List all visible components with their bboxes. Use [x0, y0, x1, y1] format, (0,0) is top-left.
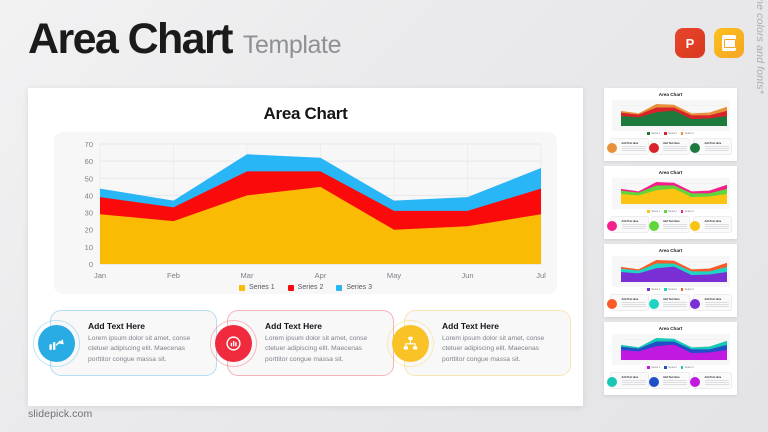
thumbnail-legend-swatch-icon	[647, 288, 650, 291]
hierarchy-icon	[392, 325, 429, 362]
thumbnail-card-text-line	[705, 306, 729, 307]
thumbnail-legend-item: Series 2	[664, 366, 677, 369]
legend-label: Series 1	[249, 284, 275, 291]
thumbnail-card-text-line	[622, 382, 646, 383]
thumbnail-legend: Series 1Series 2Series 3	[604, 132, 737, 135]
y-axis-tick: 0	[89, 260, 93, 269]
thumbnail-info-card: Add Text Here	[651, 372, 690, 389]
thumbnail-card-icon	[690, 221, 700, 231]
thumbnail-title: Area Chart	[604, 170, 737, 175]
chart-plot-area: 010203040506070JanFebMarAprMayJunJul	[54, 132, 557, 294]
info-card[interactable]: Add Text HereLorem ipsum dolor sit amet,…	[50, 310, 217, 376]
thumbnail-legend-label: Series 3	[685, 132, 694, 135]
info-card[interactable]: Add Text HereLorem ipsum dolor sit amet,…	[404, 310, 571, 376]
thumbnail-card-icon	[649, 221, 659, 231]
thumbnail-card-icon	[607, 143, 617, 153]
thumbnail-card-icon	[649, 143, 659, 153]
thumbnail-info-card: Add Text Here	[610, 294, 649, 311]
powerpoint-icon: P	[686, 36, 695, 51]
thumbnail-card-icon	[607, 377, 617, 387]
y-axis-tick: 40	[85, 191, 93, 200]
thumbnail-cards: Add Text HereAdd Text HereAdd Text Here	[604, 216, 737, 233]
growth-chart-icon	[38, 325, 75, 362]
thumbnail-legend-swatch-icon	[664, 366, 667, 369]
page-title: Area Chart	[28, 18, 232, 61]
thumbnail-card-text-line	[622, 306, 646, 307]
thumbnail-legend-label: Series 3	[685, 366, 694, 369]
thumbnail-cards: Add Text HereAdd Text HereAdd Text Here	[604, 138, 737, 155]
legend-swatch-icon	[239, 285, 245, 291]
page-subtitle: Template	[243, 31, 341, 60]
thumbnail-card-heading: Add Text Here	[622, 298, 646, 301]
thumbnail-legend-swatch-icon	[647, 132, 650, 135]
thumbnail-card-icon	[607, 299, 617, 309]
thumbnail-legend-swatch-icon	[664, 210, 667, 213]
google-slides-badge[interactable]	[714, 28, 744, 58]
thumbnail-cards: Add Text HereAdd Text HereAdd Text Here	[604, 372, 737, 389]
thumbnail-card-text-line	[663, 304, 687, 305]
thumbnail-title: Area Chart	[604, 248, 737, 253]
thumbnail-card-text-line	[663, 302, 687, 303]
thumbnail-legend: Series 1Series 2Series 3	[604, 288, 737, 291]
thumbnail-legend: Series 1Series 2Series 3	[604, 366, 737, 369]
chart-card: 010203040506070JanFebMarAprMayJunJul	[54, 132, 557, 294]
thumbnail-card-text-line	[663, 228, 687, 229]
info-card-heading: Add Text Here	[442, 321, 560, 331]
thumbnail-card-text-line	[705, 228, 729, 229]
thumbnail-card-icon	[690, 377, 700, 387]
thumbnail-legend-swatch-icon	[664, 288, 667, 291]
thumbnail-card-text-line	[622, 302, 646, 303]
x-axis-tick: Apr	[315, 271, 327, 280]
thumbnail-card-text-line	[705, 146, 729, 147]
x-axis-tick: Jan	[94, 271, 106, 280]
thumbnail-legend-label: Series 3	[685, 288, 694, 291]
thumbnail-legend-swatch-icon	[681, 132, 684, 135]
chart-legend: Series 1Series 2Series 3	[28, 284, 583, 291]
x-axis-tick: Jun	[461, 271, 473, 280]
thumbnail-card-icon	[690, 143, 700, 153]
thumbnail-card-text-line	[663, 384, 687, 385]
thumbnail-card-text-line	[663, 224, 687, 225]
thumbnail-card-icon	[690, 299, 700, 309]
thumbnail-card-text-line	[663, 226, 687, 227]
thumbnail-legend-swatch-icon	[681, 366, 684, 369]
thumbnail-info-card: Add Text Here	[693, 372, 732, 389]
thumbnail-legend-label: Series 2	[668, 210, 677, 213]
thumbnail-legend-swatch-icon	[647, 210, 650, 213]
thumbnail-card-text-line	[663, 148, 687, 149]
thumbnail-card-text-line	[622, 224, 646, 225]
thumbnail-card-text-line	[705, 150, 729, 151]
chart-title: Area Chart	[28, 104, 583, 124]
thumbnail-card-heading: Add Text Here	[705, 142, 729, 145]
thumbnail-card-heading: Add Text Here	[663, 220, 687, 223]
thumbnail-card-text-line	[663, 382, 687, 383]
thumbnail-legend-item: Series 3	[681, 366, 694, 369]
page-header: Area Chart Template	[28, 18, 341, 61]
thumbnail-legend-item: Series 1	[647, 132, 660, 135]
info-card-body: Lorem ipsum dolor sit amet, conse ctetue…	[442, 334, 560, 365]
thumbnail-chart-svg	[612, 334, 730, 365]
thumbnail-legend-item: Series 1	[647, 366, 660, 369]
thumbnail-card-heading: Add Text Here	[622, 220, 646, 223]
thumbnail-card-text-line	[663, 150, 687, 151]
thumbnail-info-card: Add Text Here	[610, 372, 649, 389]
thumbnail-card-text-line	[705, 224, 729, 225]
area-chart-svg: 010203040506070JanFebMarAprMayJunJul	[54, 132, 557, 294]
thumbnail-card-heading: Add Text Here	[622, 142, 646, 145]
thumbnail-card-text-line	[622, 148, 646, 149]
thumbnail-card-text-line	[663, 380, 687, 381]
thumbnail-legend-label: Series 1	[651, 366, 660, 369]
thumbnail-card-text-line	[622, 226, 646, 227]
thumbnail-card-text-line	[622, 384, 646, 385]
thumbnail-info-card: Add Text Here	[693, 216, 732, 233]
thumbnail-legend-item: Series 1	[647, 288, 660, 291]
footer-site: slidepick.com	[28, 408, 92, 420]
info-card-heading: Add Text Here	[88, 321, 206, 331]
y-axis-tick: 50	[85, 174, 93, 183]
thumbnail-card-text-line	[705, 304, 729, 305]
thumbnail-legend-label: Series 1	[651, 132, 660, 135]
thumbnail-info-card: Add Text Here	[651, 216, 690, 233]
thumbnail-chart-svg	[612, 178, 730, 209]
thumbnail-card-heading: Add Text Here	[705, 298, 729, 301]
google-slides-icon	[722, 35, 736, 51]
thumbnail-card-heading: Add Text Here	[622, 376, 646, 379]
thumbnail-chart-svg	[612, 100, 730, 131]
thumbnail-legend-item: Series 3	[681, 210, 694, 213]
thumbnail-card-icon	[649, 377, 659, 387]
legend-label: Series 2	[298, 284, 324, 291]
thumbnail-slide[interactable]: Area ChartSeries 1Series 2Series 3Add Te…	[604, 244, 737, 317]
info-card-heading: Add Text Here	[265, 321, 383, 331]
legend-swatch-icon	[336, 285, 342, 291]
y-axis-tick: 70	[85, 140, 93, 149]
thumbnail-legend-swatch-icon	[681, 210, 684, 213]
thumbnail-info-card: Add Text Here	[693, 294, 732, 311]
format-badges: P	[675, 28, 744, 58]
thumbnail-info-card: Add Text Here	[651, 138, 690, 155]
thumbnail-info-card: Add Text Here	[651, 294, 690, 311]
x-axis-tick: Mar	[241, 271, 254, 280]
thumbnail-card-text-line	[622, 228, 646, 229]
thumbnail-card-text-line	[705, 380, 729, 381]
thumbnail-info-card: Add Text Here	[693, 138, 732, 155]
thumbnail-card-text-line	[705, 148, 729, 149]
thumbnail-legend-item: Series 1	[647, 210, 660, 213]
thumbnail-legend-label: Series 3	[685, 210, 694, 213]
thumbnail-card-icon	[607, 221, 617, 231]
x-axis-tick: Jul	[536, 271, 546, 280]
thumbnail-list: Area ChartSeries 1Series 2Series 3Add Te…	[604, 88, 737, 395]
thumbnail-info-card: Add Text Here	[610, 216, 649, 233]
thumbnail-chart-svg	[612, 256, 730, 287]
thumbnail-slide[interactable]: Area ChartSeries 1Series 2Series 3Add Te…	[604, 322, 737, 395]
side-note-text: Easily customizable theme colors and fon…	[754, 0, 766, 130]
thumbnail-card-heading: Add Text Here	[663, 298, 687, 301]
info-card[interactable]: Add Text HereLorem ipsum dolor sit amet,…	[227, 310, 394, 376]
pie-chart-icon	[215, 325, 252, 362]
thumbnail-info-card: Add Text Here	[610, 138, 649, 155]
thumbnail-card-text-line	[705, 226, 729, 227]
thumbnail-legend-item: Series 2	[664, 210, 677, 213]
thumbnail-card-heading: Add Text Here	[705, 220, 729, 223]
y-axis-tick: 10	[85, 243, 93, 252]
thumbnail-legend-item: Series 2	[664, 288, 677, 291]
info-card-body: Lorem ipsum dolor sit amet, conse ctetue…	[88, 334, 206, 365]
legend-item[interactable]: Series 1	[239, 284, 275, 291]
x-axis-tick: Feb	[167, 271, 180, 280]
thumbnail-title: Area Chart	[604, 92, 737, 97]
legend-item[interactable]: Series 2	[288, 284, 324, 291]
thumbnail-legend-label: Series 2	[668, 288, 677, 291]
thumbnail-card-text-line	[705, 302, 729, 303]
legend-label: Series 3	[346, 284, 372, 291]
thumbnail-legend-swatch-icon	[664, 132, 667, 135]
y-axis-tick: 30	[85, 209, 93, 218]
thumbnail-card-icon	[649, 299, 659, 309]
thumbnail-card-heading: Add Text Here	[663, 142, 687, 145]
thumbnail-card-text-line	[622, 150, 646, 151]
thumbnail-card-text-line	[622, 146, 646, 147]
thumbnail-card-text-line	[705, 384, 729, 385]
thumbnail-legend-item: Series 3	[681, 288, 694, 291]
legend-swatch-icon	[288, 285, 294, 291]
thumbnail-title: Area Chart	[604, 326, 737, 331]
main-slide: Area Chart 010203040506070JanFebMarAprMa…	[28, 88, 583, 406]
thumbnail-card-text-line	[622, 380, 646, 381]
x-axis-tick: May	[387, 271, 401, 280]
legend-item[interactable]: Series 3	[336, 284, 372, 291]
thumbnail-legend-label: Series 2	[668, 132, 677, 135]
info-cards: Add Text HereLorem ipsum dolor sit amet,…	[50, 310, 571, 376]
thumbnail-card-text-line	[622, 304, 646, 305]
thumbnail-card-text-line	[705, 382, 729, 383]
thumbnail-slide[interactable]: Area ChartSeries 1Series 2Series 3Add Te…	[604, 166, 737, 239]
info-card-body: Lorem ipsum dolor sit amet, conse ctetue…	[265, 334, 383, 365]
thumbnail-cards: Add Text HereAdd Text HereAdd Text Here	[604, 294, 737, 311]
y-axis-tick: 60	[85, 157, 93, 166]
thumbnail-card-heading: Add Text Here	[705, 376, 729, 379]
thumbnail-legend-label: Series 1	[651, 288, 660, 291]
thumbnail-slide[interactable]: Area ChartSeries 1Series 2Series 3Add Te…	[604, 88, 737, 161]
thumbnail-legend-item: Series 2	[664, 132, 677, 135]
thumbnail-card-text-line	[663, 146, 687, 147]
thumbnail-card-heading: Add Text Here	[663, 376, 687, 379]
thumbnail-legend-swatch-icon	[647, 366, 650, 369]
powerpoint-badge[interactable]: P	[675, 28, 705, 58]
thumbnail-legend-label: Series 2	[668, 366, 677, 369]
thumbnail-legend-item: Series 3	[681, 132, 694, 135]
y-axis-tick: 20	[85, 226, 93, 235]
thumbnail-card-text-line	[663, 306, 687, 307]
thumbnail-legend: Series 1Series 2Series 3	[604, 210, 737, 213]
thumbnail-legend-swatch-icon	[681, 288, 684, 291]
thumbnail-legend-label: Series 1	[651, 210, 660, 213]
